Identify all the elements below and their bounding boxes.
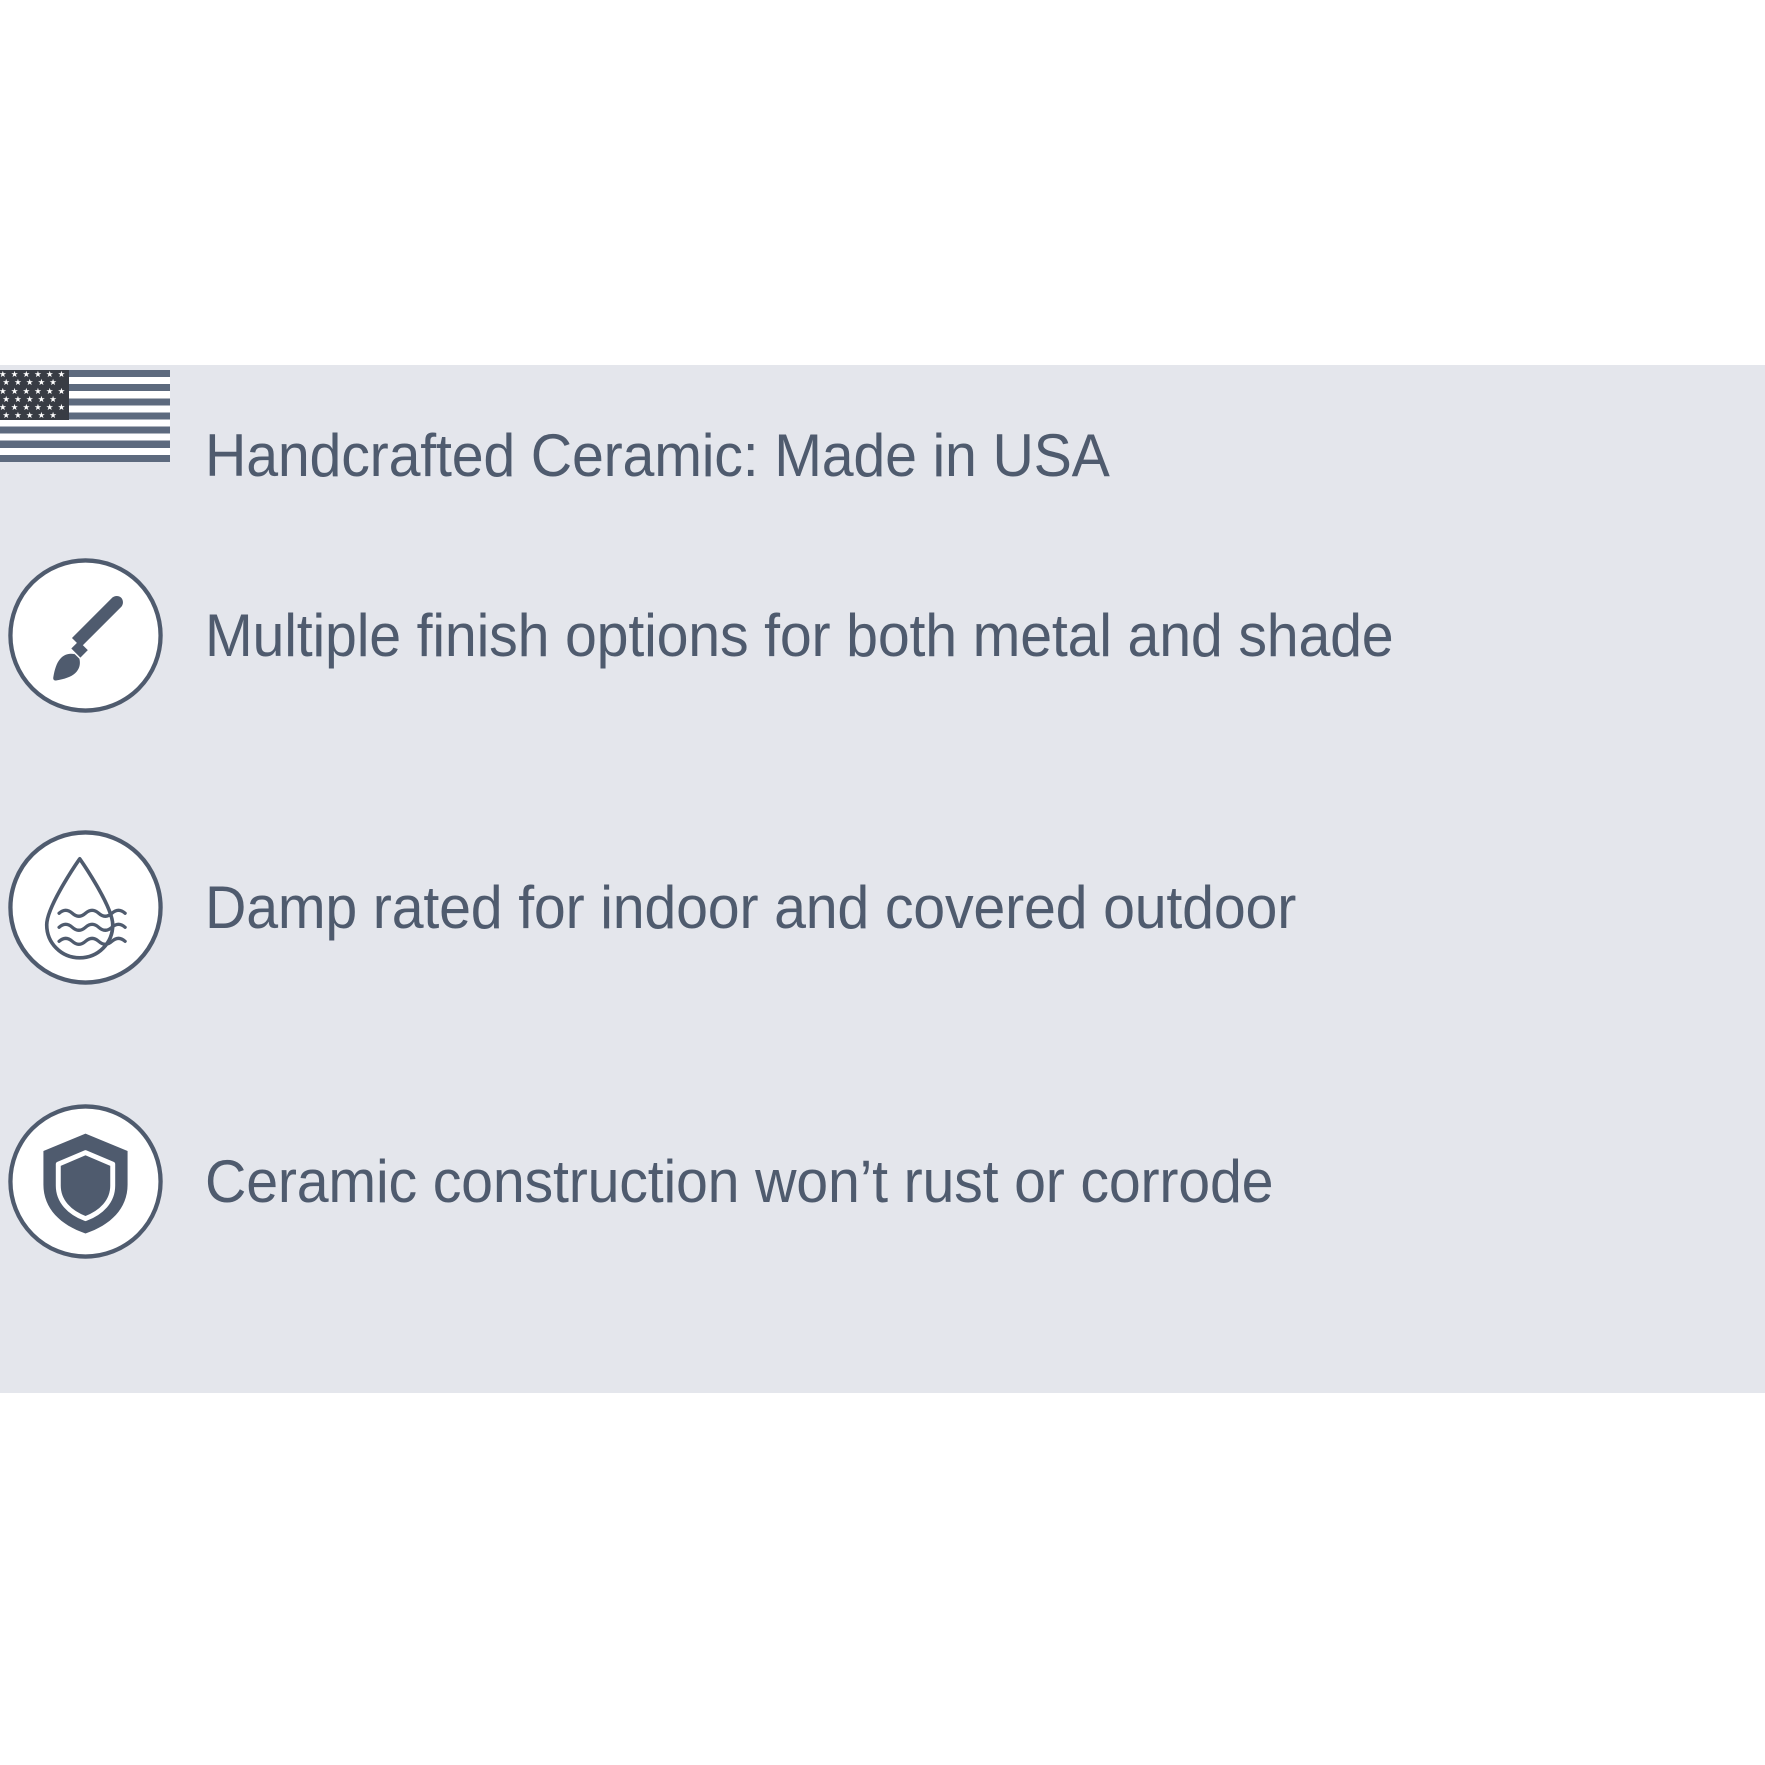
feature-row-made-in-usa: ★ ★ ★ ★ ★ ★ ★ ★ ★ ★ ★ ★ ★ ★ ★ ★ ★ ★ ★ ★ …	[0, 365, 1765, 545]
paintbrush-icon	[3, 553, 168, 718]
shield-icon	[3, 1099, 168, 1264]
feature-label-damp-rated: Damp rated for indoor and covered outdoo…	[205, 876, 1296, 939]
flag-stars: ★ ★ ★ ★ ★ ★ ★ ★ ★ ★ ★ ★ ★ ★ ★ ★ ★ ★ ★ ★ …	[0, 370, 69, 420]
icon-slot	[0, 819, 173, 995]
us-flag-icon: ★ ★ ★ ★ ★ ★ ★ ★ ★ ★ ★ ★ ★ ★ ★ ★ ★ ★ ★ ★ …	[0, 370, 170, 462]
feature-list-panel: ★ ★ ★ ★ ★ ★ ★ ★ ★ ★ ★ ★ ★ ★ ★ ★ ★ ★ ★ ★ …	[0, 365, 1765, 1393]
feature-label-ceramic-construction: Ceramic construction won’t rust or corro…	[205, 1150, 1273, 1213]
feature-label-finish-options: Multiple finish options for both metal a…	[205, 604, 1393, 667]
icon-slot	[0, 1093, 173, 1269]
feature-row-damp-rated: Damp rated for indoor and covered outdoo…	[0, 817, 1765, 997]
feature-label-made-in-usa: Handcrafted Ceramic: Made in USA	[205, 424, 1110, 487]
feature-row-finish-options: Multiple finish options for both metal a…	[0, 545, 1765, 725]
water-droplet-icon	[3, 825, 168, 990]
feature-row-ceramic-construction: Ceramic construction won’t rust or corro…	[0, 1091, 1765, 1271]
icon-slot: ★ ★ ★ ★ ★ ★ ★ ★ ★ ★ ★ ★ ★ ★ ★ ★ ★ ★ ★ ★ …	[0, 367, 173, 543]
flag-canton: ★ ★ ★ ★ ★ ★ ★ ★ ★ ★ ★ ★ ★ ★ ★ ★ ★ ★ ★ ★ …	[0, 370, 69, 420]
product-feature-callout: ★ ★ ★ ★ ★ ★ ★ ★ ★ ★ ★ ★ ★ ★ ★ ★ ★ ★ ★ ★ …	[0, 0, 1765, 1765]
icon-slot	[0, 547, 173, 723]
